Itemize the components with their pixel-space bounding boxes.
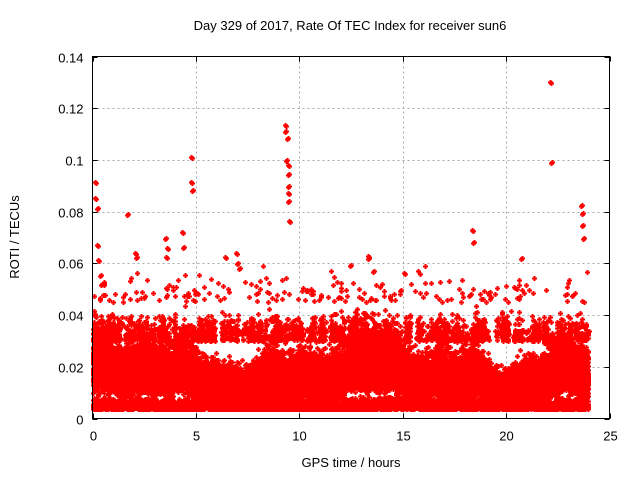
x-tick-label: 0 — [90, 429, 97, 444]
x-tick-label: 25 — [603, 429, 617, 444]
y-tick-label: 0.1 — [65, 154, 83, 169]
x-tick-label: 5 — [193, 429, 200, 444]
y-tick-label: 0.02 — [58, 361, 83, 376]
chart-figure: Day 329 of 2017, Rate Of TEC Index for r… — [0, 0, 640, 480]
y-tick-label: 0.04 — [58, 309, 83, 324]
y-tick-label: 0.06 — [58, 257, 83, 272]
x-tick-label: 20 — [499, 429, 513, 444]
x-tick-label: 10 — [292, 429, 306, 444]
y-tick-label: 0 — [76, 413, 83, 428]
x-axis-label: GPS time / hours — [302, 455, 401, 470]
roti-scatter-plot: Day 329 of 2017, Rate Of TEC Index for r… — [0, 0, 640, 480]
chart-title: Day 329 of 2017, Rate Of TEC Index for r… — [194, 18, 507, 33]
y-axis-label: ROTI / TECUs — [7, 195, 22, 279]
y-tick-label: 0.14 — [58, 51, 83, 66]
x-tick-label: 15 — [396, 429, 410, 444]
y-tick-label: 0.12 — [58, 102, 83, 117]
y-tick-label: 0.08 — [58, 206, 83, 221]
